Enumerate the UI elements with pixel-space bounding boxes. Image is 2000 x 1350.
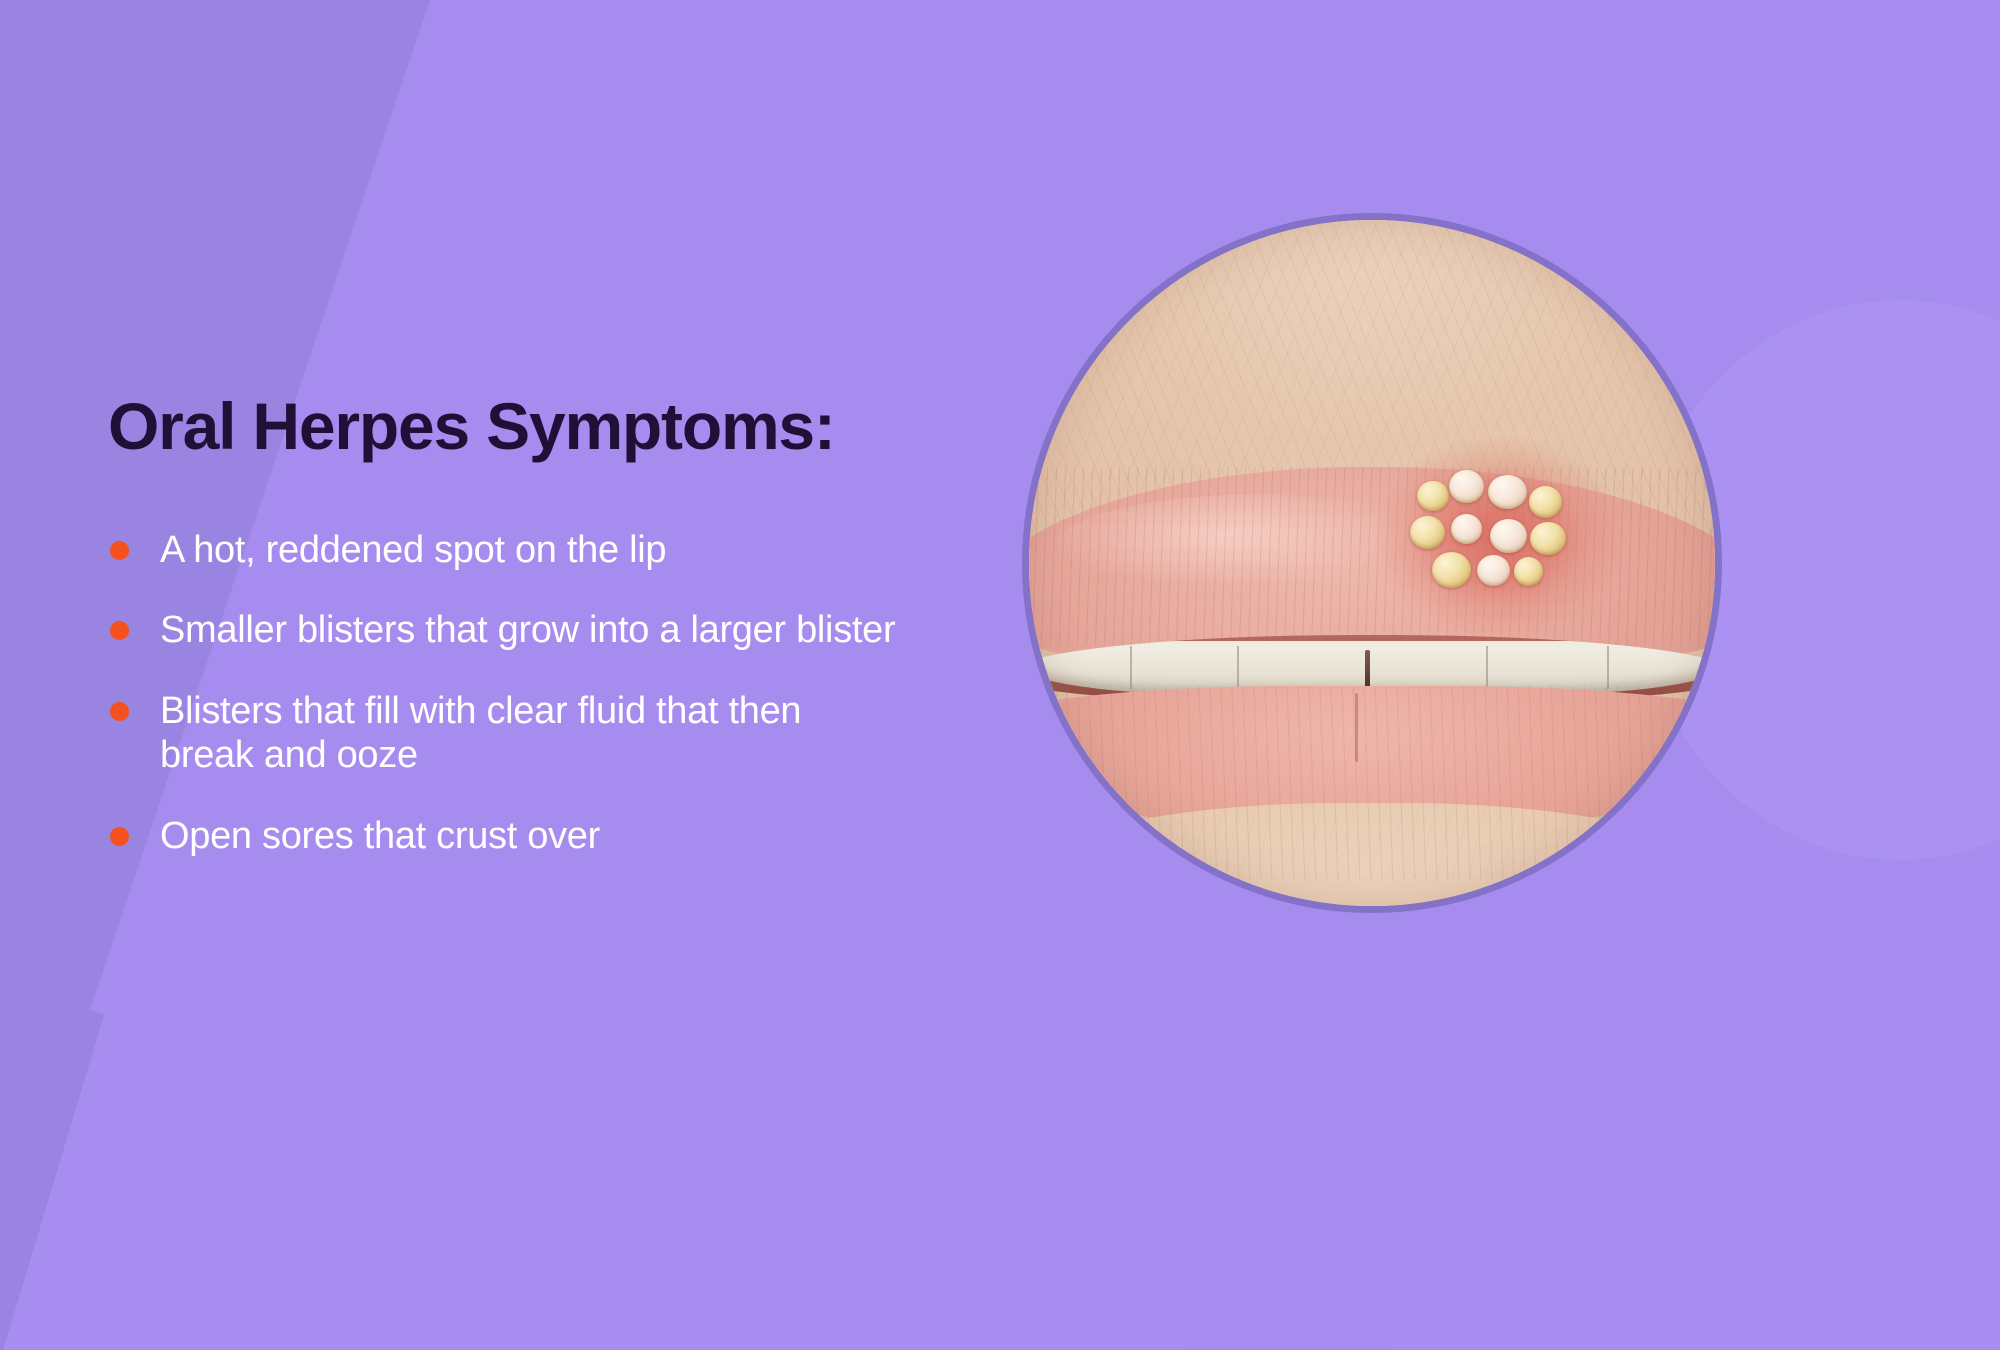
cold-sore-lesion [1406,467,1591,604]
blister-vesicle [1530,522,1565,555]
list-item-label: Smaller blisters that grow into a larger… [160,608,898,652]
lip-photo [1029,220,1715,906]
bullet-dot-icon [110,621,129,640]
blister-vesicle [1490,519,1527,553]
tooth-divider [1130,646,1132,689]
tooth-divider [1486,646,1488,689]
bullet-dot-icon [110,827,129,846]
tooth-divider [1237,646,1239,689]
list-item-label: Open sores that crust over [160,814,898,858]
blister-vesicle [1417,481,1448,511]
bullet-dot-icon [110,702,129,721]
list-item: Open sores that crust over [108,814,898,858]
tooth-divider [1607,646,1609,689]
blister-vesicle [1529,486,1562,518]
list-item: Blisters that fill with clear fluid that… [108,689,898,778]
blister-vesicle [1488,475,1527,509]
list-item-label: Blisters that fill with clear fluid that… [160,689,898,778]
symptoms-list: A hot, reddened spot on the lip Smaller … [108,528,898,894]
page-title: Oral Herpes Symptoms: [108,393,835,459]
blister-vesicle [1451,514,1482,544]
blister-vesicle [1449,470,1484,503]
lower-skin-texture [1029,686,1715,878]
list-item-label: A hot, reddened spot on the lip [160,528,898,572]
list-item: A hot, reddened spot on the lip [108,528,898,572]
blister-vesicle [1477,555,1510,587]
bullet-dot-icon [110,541,129,560]
lip-photo-circle [1022,213,1722,913]
tooth-gap [1365,650,1370,690]
slide-canvas: Oral Herpes Symptoms: A hot, reddened sp… [0,0,2000,1350]
blister-vesicle [1432,552,1471,588]
list-item: Smaller blisters that grow into a larger… [108,608,898,652]
